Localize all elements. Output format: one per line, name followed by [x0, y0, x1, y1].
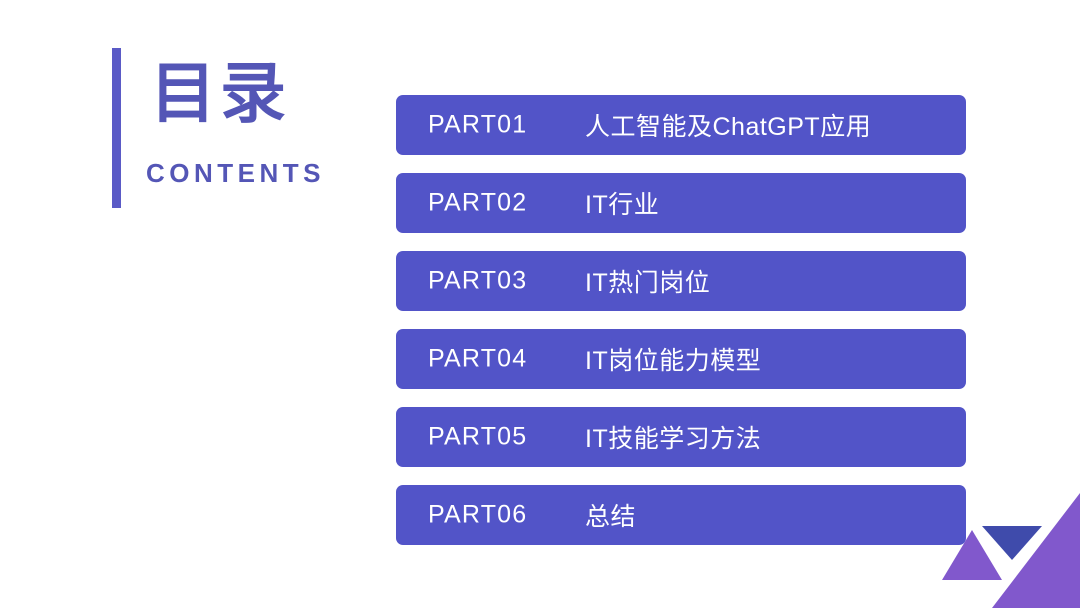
toc-part-label: PART05	[428, 423, 527, 452]
vertical-accent-rule	[112, 48, 121, 208]
toc-part-label: PART06	[428, 501, 527, 530]
toc-item-title: IT岗位能力模型	[585, 341, 761, 377]
toc-item-title: 总结	[585, 497, 636, 533]
toc-part-label: PART02	[428, 189, 527, 218]
toc-item-title: IT行业	[585, 185, 659, 221]
slide-heading: 目录 CONTENTS	[112, 48, 352, 208]
slide-canvas: 目录 CONTENTS PART01 人工智能及ChatGPT应用 PART02…	[0, 0, 1080, 608]
table-of-contents: PART01 人工智能及ChatGPT应用 PART02 IT行业 PART03…	[396, 95, 966, 545]
toc-item-part03[interactable]: PART03 IT热门岗位	[396, 251, 966, 311]
toc-item-title: 人工智能及ChatGPT应用	[585, 107, 871, 143]
toc-item-part05[interactable]: PART05 IT技能学习方法	[396, 407, 966, 467]
toc-part-label: PART04	[428, 345, 527, 374]
toc-item-part01[interactable]: PART01 人工智能及ChatGPT应用	[396, 95, 966, 155]
toc-item-part06[interactable]: PART06 总结	[396, 485, 966, 545]
toc-item-part04[interactable]: PART04 IT岗位能力模型	[396, 329, 966, 389]
toc-part-label: PART03	[428, 267, 527, 296]
indigo-inverted-triangle	[982, 526, 1042, 560]
large-purple-triangle	[992, 493, 1080, 608]
page-title: 目录	[150, 60, 290, 126]
toc-item-title: IT热门岗位	[585, 263, 710, 299]
toc-item-part02[interactable]: PART02 IT行业	[396, 173, 966, 233]
page-subtitle: CONTENTS	[146, 160, 325, 186]
toc-item-title: IT技能学习方法	[585, 419, 761, 455]
toc-part-label: PART01	[428, 111, 527, 140]
